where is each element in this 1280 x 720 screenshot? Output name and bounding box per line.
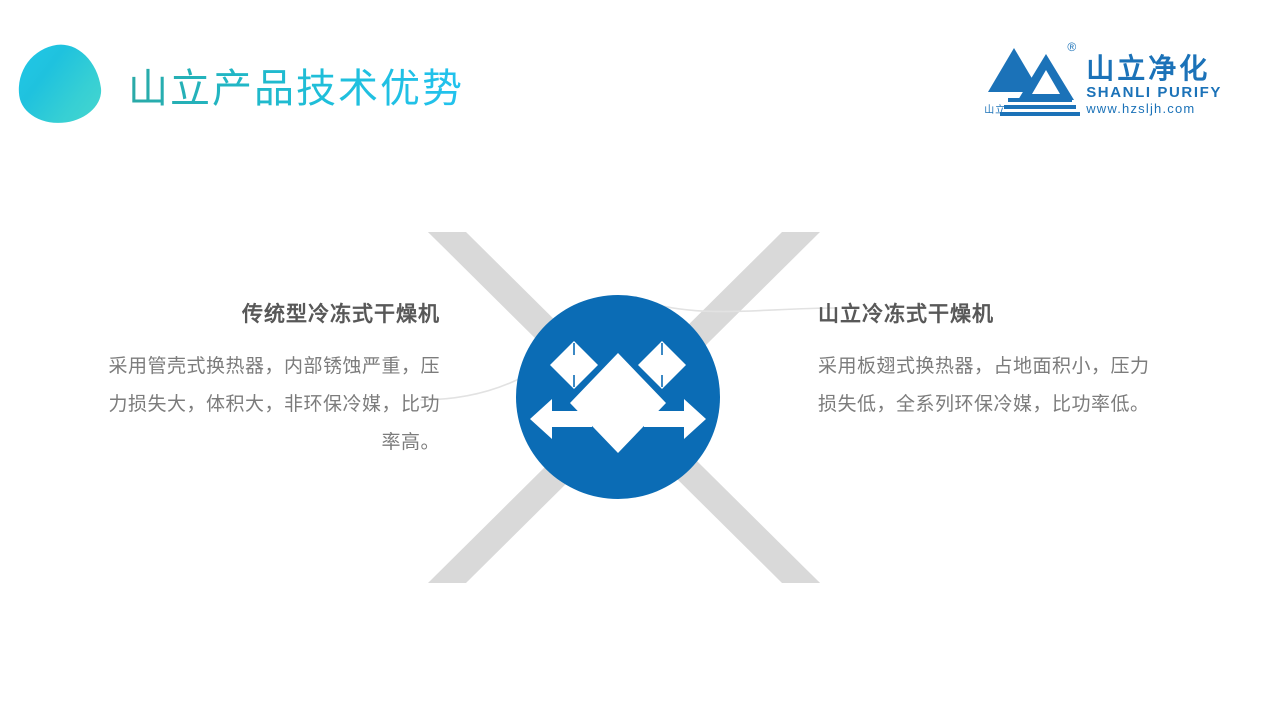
left-body-text: 采用管壳式换热器，内部锈蚀严重，压力损失大，体积大，非环保冷媒，比功率高。 bbox=[90, 348, 440, 462]
right-body-text: 采用板翅式换热器，占地面积小，压力损失低，全系列环保冷媒，比功率低。 bbox=[818, 348, 1168, 424]
company-name-cn: 山立净化 bbox=[1086, 54, 1222, 84]
company-name-en: SHANLI PURIFY bbox=[1086, 84, 1222, 101]
bidirectional-arrows-diamond-icon bbox=[516, 295, 720, 499]
left-heading: 传统型冷冻式干燥机 bbox=[90, 300, 440, 330]
page-title: 山立产品技术优势 bbox=[128, 63, 464, 115]
registered-trademark-icon: ® bbox=[1067, 40, 1076, 54]
company-logo: ® 山立 山立净化 SHANLI PURIFY www.hzsljh.com bbox=[984, 40, 1222, 122]
comparison-column-left: 传统型冷冻式干燥机 采用管壳式换热器，内部锈蚀严重，压力损失大，体积大，非环保冷… bbox=[90, 300, 440, 462]
center-emblem bbox=[516, 295, 720, 499]
slide-canvas: 山立产品技术优势 ® 山立 山立净化 SHANLI PURIFY www.hzs… bbox=[0, 0, 1280, 720]
comparison-column-right: 山立冷冻式干燥机 采用板翅式换热器，占地面积小，压力损失低，全系列环保冷媒，比功… bbox=[818, 300, 1168, 424]
twin-mountain-logo-icon: ® 山立 bbox=[984, 40, 1080, 122]
company-website: www.hzsljh.com bbox=[1086, 101, 1222, 116]
right-heading: 山立冷冻式干燥机 bbox=[818, 300, 1168, 330]
logo-mark-label: 山立 bbox=[984, 105, 1006, 116]
blob-decoration-icon bbox=[13, 40, 105, 129]
